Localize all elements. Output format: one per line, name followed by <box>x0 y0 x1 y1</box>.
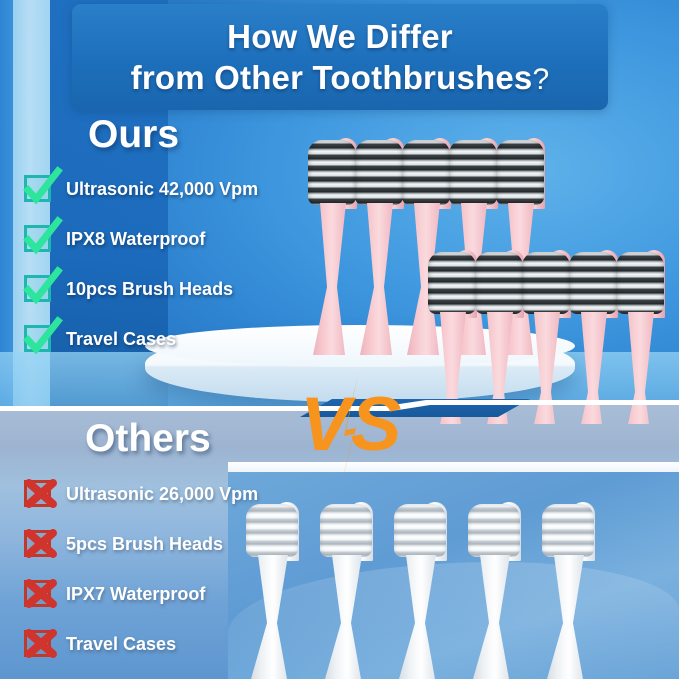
title-question-mark: ? <box>532 63 549 96</box>
check-icon <box>22 222 56 256</box>
x-icon <box>22 627 56 661</box>
brush-head <box>246 504 298 679</box>
check-icon <box>22 172 56 206</box>
brush-head <box>428 252 476 424</box>
others-feature-label: 5pcs Brush Heads <box>66 534 223 555</box>
infographic-canvas: How We Differ from Other Toothbrushes? O… <box>0 0 679 679</box>
brush-bristles <box>394 504 446 557</box>
brush-neck <box>468 555 520 679</box>
brush-bristles <box>496 140 544 205</box>
ours-feature-row: Ultrasonic 42,000 Vpm <box>22 164 258 214</box>
others-feature-label: IPX7 Waterproof <box>66 584 205 605</box>
versus-graphic: VS <box>296 372 416 490</box>
brush-neck <box>569 312 617 424</box>
brush-bristles <box>320 504 372 557</box>
versus-label: VS <box>300 382 401 467</box>
brush-neck <box>355 203 403 355</box>
others-feature-row: Ultrasonic 26,000 Vpm <box>22 469 258 519</box>
versus-badge: VS <box>296 372 416 490</box>
brush-head <box>475 252 523 424</box>
ours-feature-label: IPX8 Waterproof <box>66 229 205 250</box>
brush-bristles <box>542 504 594 557</box>
brush-head <box>569 252 617 424</box>
ours-heading: Ours <box>88 113 179 157</box>
ours-feature-row: IPX8 Waterproof <box>22 214 258 264</box>
brush-bristles <box>569 252 617 314</box>
brush-head <box>394 504 446 679</box>
others-feature-label: Ultrasonic 26,000 Vpm <box>66 484 258 505</box>
brush-head <box>542 504 594 679</box>
brush-bristles <box>616 252 664 314</box>
brush-head <box>320 504 372 679</box>
others-feature-row: 5pcs Brush Heads <box>22 519 258 569</box>
brush-bristles <box>308 140 356 205</box>
others-photo-area <box>228 470 679 679</box>
brush-head <box>522 252 570 424</box>
check-icon <box>22 272 56 306</box>
brush-bristles <box>449 140 497 205</box>
title-banner: How We Differ from Other Toothbrushes? <box>72 4 608 110</box>
others-feature-list: Ultrasonic 26,000 Vpm5pcs Brush HeadsIPX… <box>22 469 258 669</box>
title-line-1: How We Differ <box>72 18 608 56</box>
others-feature-row: IPX7 Waterproof <box>22 569 258 619</box>
ours-feature-label: Ultrasonic 42,000 Vpm <box>66 179 258 200</box>
brush-bristles <box>468 504 520 557</box>
ours-feature-label: 10pcs Brush Heads <box>66 279 233 300</box>
brush-head <box>616 252 664 424</box>
brush-neck <box>542 555 594 679</box>
ours-feature-row: 10pcs Brush Heads <box>22 264 258 314</box>
brush-head <box>355 140 403 355</box>
brush-bristles <box>475 252 523 314</box>
brush-neck <box>394 555 446 679</box>
brush-head <box>468 504 520 679</box>
brush-neck <box>522 312 570 424</box>
brush-bristles <box>246 504 298 557</box>
brush-head <box>308 140 356 355</box>
brush-bristles <box>428 252 476 314</box>
brush-neck <box>616 312 664 424</box>
ours-feature-list: Ultrasonic 42,000 VpmIPX8 Waterproof10pc… <box>22 164 258 364</box>
brush-bristles <box>355 140 403 205</box>
brush-neck <box>320 555 372 679</box>
brush-neck <box>246 555 298 679</box>
check-icon <box>22 322 56 356</box>
x-icon <box>22 577 56 611</box>
title-line-2-text: from Other Toothbrushes <box>131 59 533 96</box>
brush-bristles <box>402 140 450 205</box>
ours-feature-label: Travel Cases <box>66 329 176 350</box>
x-icon <box>22 477 56 511</box>
brush-neck <box>308 203 356 355</box>
others-feature-row: Travel Cases <box>22 619 258 669</box>
title-line-2: from Other Toothbrushes? <box>72 59 608 97</box>
brush-bristles <box>522 252 570 314</box>
x-icon <box>22 527 56 561</box>
others-heading: Others <box>85 417 211 461</box>
ours-feature-row: Travel Cases <box>22 314 258 364</box>
others-feature-label: Travel Cases <box>66 634 176 655</box>
